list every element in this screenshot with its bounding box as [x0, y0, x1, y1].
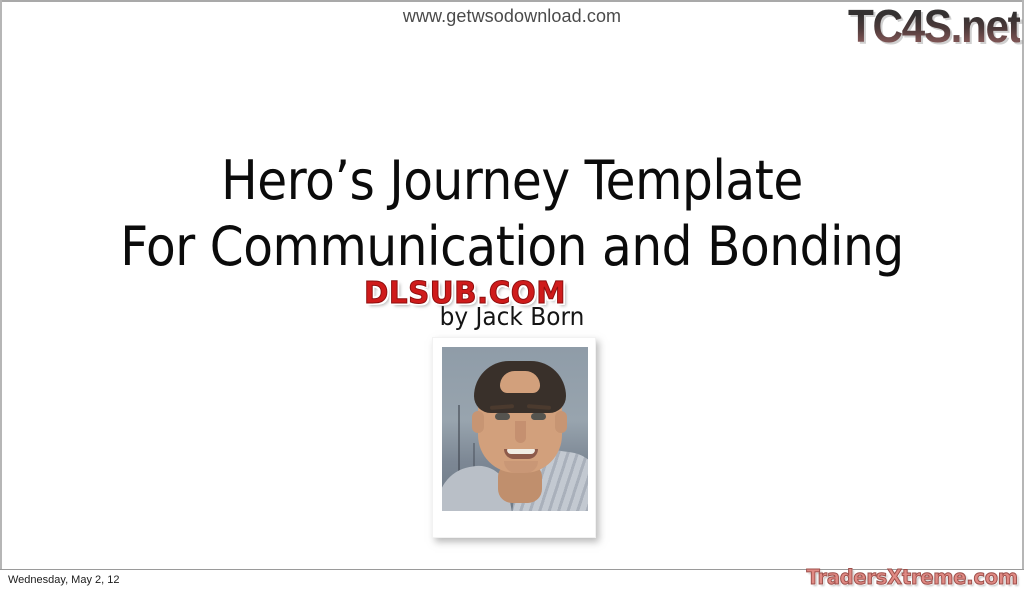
- photo-ear-left: [472, 411, 484, 433]
- tradersxtreme-logo: TradersXtreme.com: [807, 565, 1018, 589]
- slide-title: Hero’s Journey Template For Communicatio…: [0, 148, 1024, 280]
- photo-eye-left: [495, 413, 510, 420]
- portrait-photo-frame: [432, 337, 596, 538]
- photo-nose: [515, 421, 526, 443]
- photo-ear-right: [555, 411, 567, 433]
- tc4s-logo: TC4S.net: [848, 0, 1020, 52]
- portrait-photo: [442, 347, 588, 511]
- photo-forehead: [500, 371, 540, 393]
- footer-date: Wednesday, May 2, 12: [8, 574, 120, 586]
- dlsub-watermark: DLSUB.COM: [364, 277, 566, 311]
- presentation-slide: www.getwsodownload.com TC4S.net TC4S.net…: [0, 0, 1024, 592]
- slide-border-left: [0, 0, 2, 570]
- photo-eye-right: [531, 413, 546, 420]
- title-line-2: For Communication and Bonding: [51, 214, 973, 280]
- title-line-1: Hero’s Journey Template: [51, 148, 973, 214]
- photo-teeth: [507, 449, 535, 454]
